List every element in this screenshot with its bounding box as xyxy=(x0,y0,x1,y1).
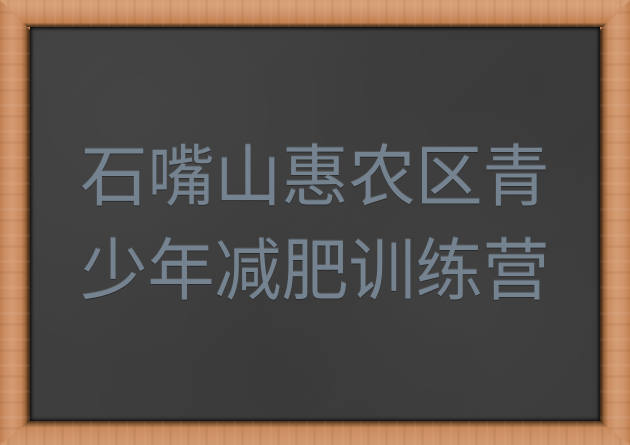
headline-line-2: 少年减肥训练营 xyxy=(81,224,550,318)
frame-rail-left xyxy=(0,0,30,445)
frame-rail-right xyxy=(600,0,630,445)
frame-rail-top xyxy=(0,0,630,27)
headline-text: 石嘴山惠农区青 少年减肥训练营 xyxy=(81,130,550,318)
framed-chalkboard: 石嘴山惠农区青 少年减肥训练营 xyxy=(0,0,630,445)
chalkboard-surface: 石嘴山惠农区青 少年减肥训练营 xyxy=(30,27,600,421)
headline-line-1: 石嘴山惠农区青 xyxy=(81,130,550,224)
frame-rail-bottom xyxy=(0,421,630,445)
